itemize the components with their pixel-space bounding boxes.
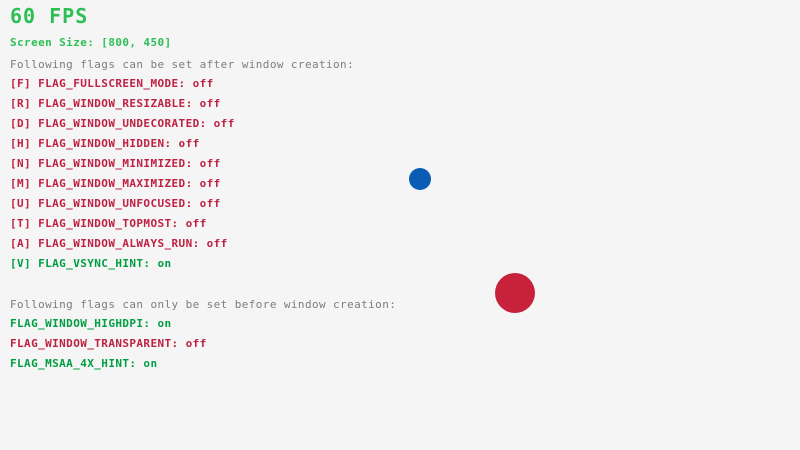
flag-line-flag-window-resizable[interactable]: [R] FLAG_WINDOW_RESIZABLE: off: [10, 98, 221, 110]
flag-line-flag-window-minimized[interactable]: [N] FLAG_WINDOW_MINIMIZED: off: [10, 158, 221, 170]
flag-line-flag-window-undecorated[interactable]: [D] FLAG_WINDOW_UNDECORATED: off: [10, 118, 235, 130]
creation-flags-note: Following flags can only be set before w…: [10, 299, 396, 311]
flag-line-flag-window-maximized[interactable]: [M] FLAG_WINDOW_MAXIMIZED: off: [10, 178, 221, 190]
flag-line-flag-window-transparent[interactable]: FLAG_WINDOW_TRANSPARENT: off: [10, 338, 207, 350]
raylib-window: 60 FPS Screen Size: [800, 450] Following…: [0, 0, 800, 450]
flag-line-flag-window-highdpi[interactable]: FLAG_WINDOW_HIGHDPI: on: [10, 318, 172, 330]
flag-line-flag-fullscreen-mode[interactable]: [F] FLAG_FULLSCREEN_MODE: off: [10, 78, 214, 90]
flag-line-flag-msaa-4x-hint[interactable]: FLAG_MSAA_4X_HINT: on: [10, 358, 157, 370]
flag-line-flag-window-always-run[interactable]: [A] FLAG_WINDOW_ALWAYS_RUN: off: [10, 238, 228, 250]
bouncing-ball-red: [495, 273, 535, 313]
runtime-flags-note: Following flags can be set after window …: [10, 59, 354, 71]
fps-counter: 60 FPS: [10, 6, 88, 26]
bouncing-ball-blue: [409, 168, 431, 190]
screen-size-label: Screen Size: [800, 450]: [10, 37, 172, 49]
flag-line-flag-window-hidden[interactable]: [H] FLAG_WINDOW_HIDDEN: off: [10, 138, 200, 150]
flag-line-flag-window-unfocused[interactable]: [U] FLAG_WINDOW_UNFOCUSED: off: [10, 198, 221, 210]
flag-line-flag-vsync-hint[interactable]: [V] FLAG_VSYNC_HINT: on: [10, 258, 172, 270]
flag-line-flag-window-topmost[interactable]: [T] FLAG_WINDOW_TOPMOST: off: [10, 218, 207, 230]
